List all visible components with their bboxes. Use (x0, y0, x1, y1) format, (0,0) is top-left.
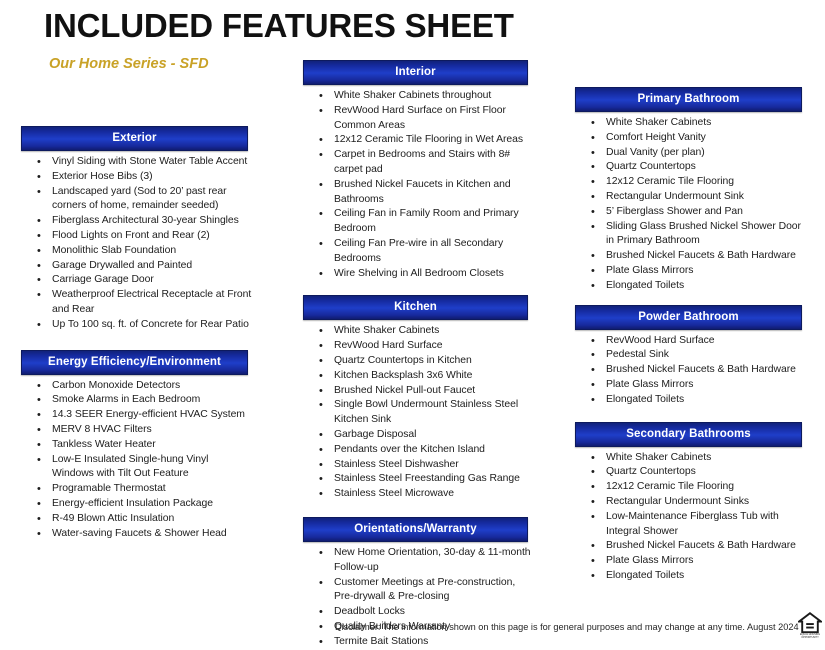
list-item-label: Smoke Alarms in Each Bedroom (52, 394, 200, 405)
list-item: •Wire Shelving in All Bedroom Closets (303, 267, 535, 282)
bullet-icon: • (591, 264, 595, 279)
list-item-label: Quartz Countertops (606, 466, 696, 477)
list-item: •Brushed Nickel Faucets & Bath Hardware (575, 363, 807, 378)
bullet-icon: • (319, 369, 323, 384)
section-header-kitchen: Kitchen (303, 295, 528, 320)
list-item-label: Stainless Steel Dishwasher (334, 459, 459, 470)
list-item-label: RevWood Hard Surface (334, 340, 443, 351)
list-item: •RevWood Hard Surface (303, 339, 535, 354)
bullet-icon: • (37, 379, 41, 394)
bullet-icon: • (319, 384, 323, 399)
section-header-exterior: Exterior (21, 126, 248, 151)
bullet-icon: • (591, 554, 595, 569)
bullet-icon: • (37, 155, 41, 170)
section-spacer (303, 502, 535, 517)
list-item: •Rectangular Undermount Sink (575, 190, 807, 205)
feature-list-primary-bathroom: •White Shaker Cabinets•Comfort Height Va… (575, 116, 807, 294)
list-item: •Plate Glass Mirrors (575, 554, 807, 569)
list-item-label: Energy-efficient Insulation Package (52, 498, 213, 509)
list-item-label: Sliding Glass Brushed Nickel Shower Door… (606, 221, 801, 247)
section-spacer (303, 281, 535, 295)
list-item: •5’ Fiberglass Shower and Pan (575, 205, 807, 220)
list-item: •Water-saving Faucets & Shower Head (21, 527, 253, 542)
list-item: •Sliding Glass Brushed Nickel Shower Doo… (575, 220, 807, 250)
list-item-label: Low-E Insulated Single-hung Vinyl Window… (52, 454, 208, 480)
list-item: •White Shaker Cabinets (303, 324, 535, 339)
list-item: •Fiberglass Architectural 30-year Shingl… (21, 214, 253, 229)
bullet-icon: • (591, 205, 595, 220)
list-item: •White Shaker Cabinets (575, 116, 807, 131)
list-item: •Deadbolt Locks (303, 605, 535, 620)
section-spacer (575, 294, 807, 305)
list-item: •White Shaker Cabinets throughout (303, 89, 535, 104)
bullet-icon: • (591, 160, 595, 175)
page-subtitle: Our Home Series - SFD (49, 56, 209, 72)
list-item-label: Landscaped yard (Sod to 20’ past rear co… (52, 186, 227, 212)
list-item: •Pendants over the Kitchen Island (303, 443, 535, 458)
list-item: •Landscaped yard (Sod to 20’ past rear c… (21, 185, 253, 215)
bullet-icon: • (319, 324, 323, 339)
list-item-label: RevWood Hard Surface on First Floor Comm… (334, 105, 506, 131)
list-item-label: Plate Glass Mirrors (606, 265, 693, 276)
list-item-label: R-49 Blown Attic Insulation (52, 513, 174, 524)
list-item-label: Quartz Countertops (606, 161, 696, 172)
list-item-label: Weatherproof Electrical Receptacle at Fr… (52, 289, 251, 315)
section-powder-bathroom: Powder Bathroom•RevWood Hard Surface•Ped… (575, 305, 807, 408)
section-interior: Interior•White Shaker Cabinets throughou… (303, 60, 535, 281)
list-item-label: Dual Vanity (per plan) (606, 147, 705, 158)
list-item: •Smoke Alarms in Each Bedroom (21, 393, 253, 408)
bullet-icon: • (37, 185, 41, 200)
feature-list-kitchen: •White Shaker Cabinets•RevWood Hard Surf… (303, 324, 535, 502)
feature-list-secondary-bathrooms: •White Shaker Cabinets•Quartz Countertop… (575, 451, 807, 584)
list-item: •Monolithic Slab Foundation (21, 244, 253, 259)
list-item: •Brushed Nickel Faucets & Bath Hardware (575, 539, 807, 554)
bullet-icon: • (37, 438, 41, 453)
list-item-label: Brushed Nickel Faucets & Bath Hardware (606, 364, 796, 375)
list-item: •12x12 Ceramic Tile Flooring (575, 175, 807, 190)
list-item: •14.3 SEER Energy-efficient HVAC System (21, 408, 253, 423)
list-item: •Brushed Nickel Faucets in Kitchen and B… (303, 178, 535, 208)
bullet-icon: • (591, 480, 595, 495)
list-item: •Energy-efficient Insulation Package (21, 497, 253, 512)
bullet-icon: • (319, 458, 323, 473)
list-item-label: Low-Maintenance Fiberglass Tub with Inte… (606, 511, 779, 537)
list-item-label: Quartz Countertops in Kitchen (334, 355, 472, 366)
list-item: •Low-Maintenance Fiberglass Tub with Int… (575, 510, 807, 540)
list-item-label: Ceiling Fan in Family Room and Primary B… (334, 208, 519, 234)
section-header-interior: Interior (303, 60, 528, 85)
list-item-label: 12x12 Ceramic Tile Flooring (606, 481, 734, 492)
bullet-icon: • (37, 497, 41, 512)
list-item-label: Plate Glass Mirrors (606, 555, 693, 566)
feature-list-exterior: •Vinyl Siding with Stone Water Table Acc… (21, 155, 253, 333)
list-item-label: White Shaker Cabinets (334, 325, 439, 336)
list-item-label: Exterior Hose Bibs (3) (52, 171, 153, 182)
bullet-icon: • (319, 443, 323, 458)
list-item-label: Pedestal Sink (606, 349, 669, 360)
feature-list-energy-efficiency-environment: •Carbon Monoxide Detectors•Smoke Alarms … (21, 379, 253, 542)
list-item-label: 12x12 Ceramic Tile Flooring (606, 176, 734, 187)
bullet-icon: • (319, 398, 323, 413)
bullet-icon: • (591, 569, 595, 584)
list-item: •Quartz Countertops (575, 160, 807, 175)
bullet-icon: • (591, 378, 595, 393)
bullet-icon: • (37, 482, 41, 497)
bullet-icon: • (319, 178, 323, 193)
list-item: •Kitchen Backsplash 3x6 White (303, 369, 535, 384)
list-item-label: RevWood Hard Surface (606, 335, 715, 346)
list-item: •Brushed Nickel Pull-out Faucet (303, 384, 535, 399)
list-item: •Plate Glass Mirrors (575, 378, 807, 393)
list-item-label: Stainless Steel Microwave (334, 488, 454, 499)
list-item-label: 14.3 SEER Energy-efficient HVAC System (52, 409, 245, 420)
list-item: •Single Bowl Undermount Stainless Steel … (303, 398, 535, 428)
bullet-icon: • (591, 510, 595, 525)
bullet-icon: • (591, 249, 595, 264)
list-item-label: Fiberglass Architectural 30-year Shingle… (52, 215, 239, 226)
bullet-icon: • (37, 423, 41, 438)
section-header-powder-bathroom: Powder Bathroom (575, 305, 802, 330)
list-item: •Ceiling Fan Pre-wire in all Secondary B… (303, 237, 535, 267)
list-item-label: Carpet in Bedrooms and Stairs with 8# ca… (334, 149, 510, 175)
section-kitchen: Kitchen•White Shaker Cabinets•RevWood Ha… (303, 295, 535, 502)
list-item: •Carbon Monoxide Detectors (21, 379, 253, 394)
section-energy-efficiency-environment: Energy Efficiency/Environment•Carbon Mon… (21, 350, 253, 542)
list-item-label: Stainless Steel Freestanding Gas Range (334, 473, 520, 484)
column-right: Primary Bathroom•White Shaker Cabinets•C… (575, 87, 807, 584)
bullet-icon: • (37, 512, 41, 527)
list-item: •Quartz Countertops (575, 465, 807, 480)
list-item-label: Flood Lights on Front and Rear (2) (52, 230, 210, 241)
list-item: •12x12 Ceramic Tile Flooring in Wet Area… (303, 133, 535, 148)
section-header-secondary-bathrooms: Secondary Bathrooms (575, 422, 802, 447)
bullet-icon: • (319, 339, 323, 354)
bullet-icon: • (591, 363, 595, 378)
bullet-icon: • (37, 453, 41, 468)
list-item-label: Deadbolt Locks (334, 606, 405, 617)
list-item-label: Ceiling Fan Pre-wire in all Secondary Be… (334, 238, 503, 264)
list-item: •Brushed Nickel Faucets & Bath Hardware (575, 249, 807, 264)
list-item-label: Rectangular Undermount Sinks (606, 496, 749, 507)
feature-list-powder-bathroom: •RevWood Hard Surface•Pedestal Sink•Brus… (575, 334, 807, 408)
bullet-icon: • (591, 465, 595, 480)
section-spacer (21, 333, 253, 350)
bullet-icon: • (319, 546, 323, 561)
list-item: •Flood Lights on Front and Rear (2) (21, 229, 253, 244)
list-item: •Stainless Steel Freestanding Gas Range (303, 472, 535, 487)
list-item: •Elongated Toilets (575, 279, 807, 294)
list-item: •Rectangular Undermount Sinks (575, 495, 807, 510)
list-item: •Plate Glass Mirrors (575, 264, 807, 279)
list-item-label: Programable Thermostat (52, 483, 166, 494)
bullet-icon: • (37, 244, 41, 259)
bullet-icon: • (319, 576, 323, 591)
bullet-icon: • (591, 393, 595, 408)
list-item-label: Carriage Garage Door (52, 274, 154, 285)
list-item: •Vinyl Siding with Stone Water Table Acc… (21, 155, 253, 170)
list-item-label: Brushed Nickel Faucets & Bath Hardware (606, 540, 796, 551)
list-item: •Dual Vanity (per plan) (575, 146, 807, 161)
list-item-label: 5’ Fiberglass Shower and Pan (606, 206, 743, 217)
list-item: •RevWood Hard Surface on First Floor Com… (303, 104, 535, 134)
list-item: •Weatherproof Electrical Receptacle at F… (21, 288, 253, 318)
list-item: •Garbage Disposal (303, 428, 535, 443)
disclaimer-text: Disclaimer: The information shown on thi… (335, 621, 799, 633)
list-item-label: Garage Drywalled and Painted (52, 260, 192, 271)
list-item-label: Elongated Toilets (606, 570, 684, 581)
bullet-icon: • (37, 527, 41, 542)
section-secondary-bathrooms: Secondary Bathrooms•White Shaker Cabinet… (575, 422, 807, 584)
list-item: •Carriage Garage Door (21, 273, 253, 288)
bullet-icon: • (591, 220, 595, 235)
bullet-icon: • (37, 393, 41, 408)
bullet-icon: • (319, 354, 323, 369)
column-middle: Interior•White Shaker Cabinets throughou… (303, 60, 535, 650)
list-item: •White Shaker Cabinets (575, 451, 807, 466)
page-footer: Disclaimer: The information shown on thi… (0, 621, 825, 641)
bullet-icon: • (319, 104, 323, 119)
list-item: •New Home Orientation, 30-day & 11-month… (303, 546, 535, 576)
list-item-label: Up To 100 sq. ft. of Concrete for Rear P… (52, 319, 249, 330)
list-item-label: MERV 8 HVAC Filters (52, 424, 152, 435)
list-item: •Exterior Hose Bibs (3) (21, 170, 253, 185)
bullet-icon: • (37, 214, 41, 229)
list-item: •12x12 Ceramic Tile Flooring (575, 480, 807, 495)
bullet-icon: • (319, 267, 323, 282)
bullet-icon: • (591, 334, 595, 349)
bullet-icon: • (37, 229, 41, 244)
bullet-icon: • (591, 175, 595, 190)
list-item: •Elongated Toilets (575, 569, 807, 584)
bullet-icon: • (37, 273, 41, 288)
list-item-label: Brushed Nickel Faucets in Kitchen and Ba… (334, 179, 511, 205)
list-item-label: Tankless Water Heater (52, 439, 156, 450)
list-item: •RevWood Hard Surface (575, 334, 807, 349)
bullet-icon: • (591, 190, 595, 205)
equal-housing-opportunity-logo: EQUAL HOUSING OPPORTUNITY (798, 612, 822, 639)
feature-list-interior: •White Shaker Cabinets throughout•RevWoo… (303, 89, 535, 281)
bullet-icon: • (319, 487, 323, 502)
list-item-label: Customer Meetings at Pre-construction, P… (334, 577, 515, 603)
bullet-icon: • (37, 408, 41, 423)
bullet-icon: • (591, 146, 595, 161)
list-item-label: Single Bowl Undermount Stainless Steel K… (334, 399, 518, 425)
bullet-icon: • (37, 170, 41, 185)
list-item: •Carpet in Bedrooms and Stairs with 8# c… (303, 148, 535, 178)
bullet-icon: • (319, 148, 323, 163)
section-header-orientations-warranty: Orientations/Warranty (303, 517, 528, 542)
bullet-icon: • (319, 472, 323, 487)
bullet-icon: • (319, 605, 323, 620)
list-item: •Pedestal Sink (575, 348, 807, 363)
section-exterior: Exterior•Vinyl Siding with Stone Water T… (21, 126, 253, 333)
list-item: •Customer Meetings at Pre-construction, … (303, 576, 535, 606)
bullet-icon: • (591, 279, 595, 294)
list-item-label: Comfort Height Vanity (606, 132, 706, 143)
page-title: INCLUDED FEATURES SHEET (44, 7, 514, 45)
bullet-icon: • (591, 539, 595, 554)
bullet-icon: • (591, 116, 595, 131)
list-item: •Tankless Water Heater (21, 438, 253, 453)
list-item: •MERV 8 HVAC Filters (21, 423, 253, 438)
list-item-label: Elongated Toilets (606, 394, 684, 405)
list-item-label: Elongated Toilets (606, 280, 684, 291)
list-item-label: White Shaker Cabinets (606, 452, 711, 463)
list-item: •Ceiling Fan in Family Room and Primary … (303, 207, 535, 237)
list-item-label: White Shaker Cabinets throughout (334, 90, 491, 101)
list-item: •Comfort Height Vanity (575, 131, 807, 146)
list-item-label: White Shaker Cabinets (606, 117, 711, 128)
list-item: •Elongated Toilets (575, 393, 807, 408)
bullet-icon: • (319, 237, 323, 252)
section-header-primary-bathroom: Primary Bathroom (575, 87, 802, 112)
list-item-label: Vinyl Siding with Stone Water Table Acce… (52, 156, 247, 167)
bullet-icon: • (37, 259, 41, 274)
list-item: •Up To 100 sq. ft. of Concrete for Rear … (21, 318, 253, 333)
section-primary-bathroom: Primary Bathroom•White Shaker Cabinets•C… (575, 87, 807, 294)
bullet-icon: • (591, 495, 595, 510)
list-item-label: Monolithic Slab Foundation (52, 245, 176, 256)
list-item-label: Plate Glass Mirrors (606, 379, 693, 390)
section-header-energy-efficiency-environment: Energy Efficiency/Environment (21, 350, 248, 375)
list-item-label: Brushed Nickel Pull-out Faucet (334, 385, 475, 396)
bullet-icon: • (319, 89, 323, 104)
list-item: •Low-E Insulated Single-hung Vinyl Windo… (21, 453, 253, 483)
bullet-icon: • (319, 133, 323, 148)
eho-logo-caption: EQUAL HOUSING OPPORTUNITY (798, 633, 822, 639)
bullet-icon: • (591, 348, 595, 363)
list-item-label: Rectangular Undermount Sink (606, 191, 744, 202)
list-item: •Programable Thermostat (21, 482, 253, 497)
bullet-icon: • (319, 207, 323, 222)
list-item-label: Wire Shelving in All Bedroom Closets (334, 268, 504, 279)
list-item-label: Garbage Disposal (334, 429, 416, 440)
list-item: •Stainless Steel Dishwasher (303, 458, 535, 473)
list-item-label: Pendants over the Kitchen Island (334, 444, 485, 455)
section-spacer (575, 408, 807, 422)
list-item: •Stainless Steel Microwave (303, 487, 535, 502)
bullet-icon: • (591, 451, 595, 466)
bullet-icon: • (37, 288, 41, 303)
list-item-label: 12x12 Ceramic Tile Flooring in Wet Areas (334, 134, 523, 145)
bullet-icon: • (319, 428, 323, 443)
list-item: •Garage Drywalled and Painted (21, 259, 253, 274)
bullet-icon: • (591, 131, 595, 146)
bullet-icon: • (37, 318, 41, 333)
list-item: •R-49 Blown Attic Insulation (21, 512, 253, 527)
list-item-label: Water-saving Faucets & Shower Head (52, 528, 227, 539)
list-item-label: Kitchen Backsplash 3x6 White (334, 370, 472, 381)
list-item: •Quartz Countertops in Kitchen (303, 354, 535, 369)
list-item-label: New Home Orientation, 30-day & 11-month … (334, 547, 531, 573)
list-item-label: Brushed Nickel Faucets & Bath Hardware (606, 250, 796, 261)
column-left: Exterior•Vinyl Siding with Stone Water T… (21, 126, 253, 541)
list-item-label: Carbon Monoxide Detectors (52, 380, 180, 391)
